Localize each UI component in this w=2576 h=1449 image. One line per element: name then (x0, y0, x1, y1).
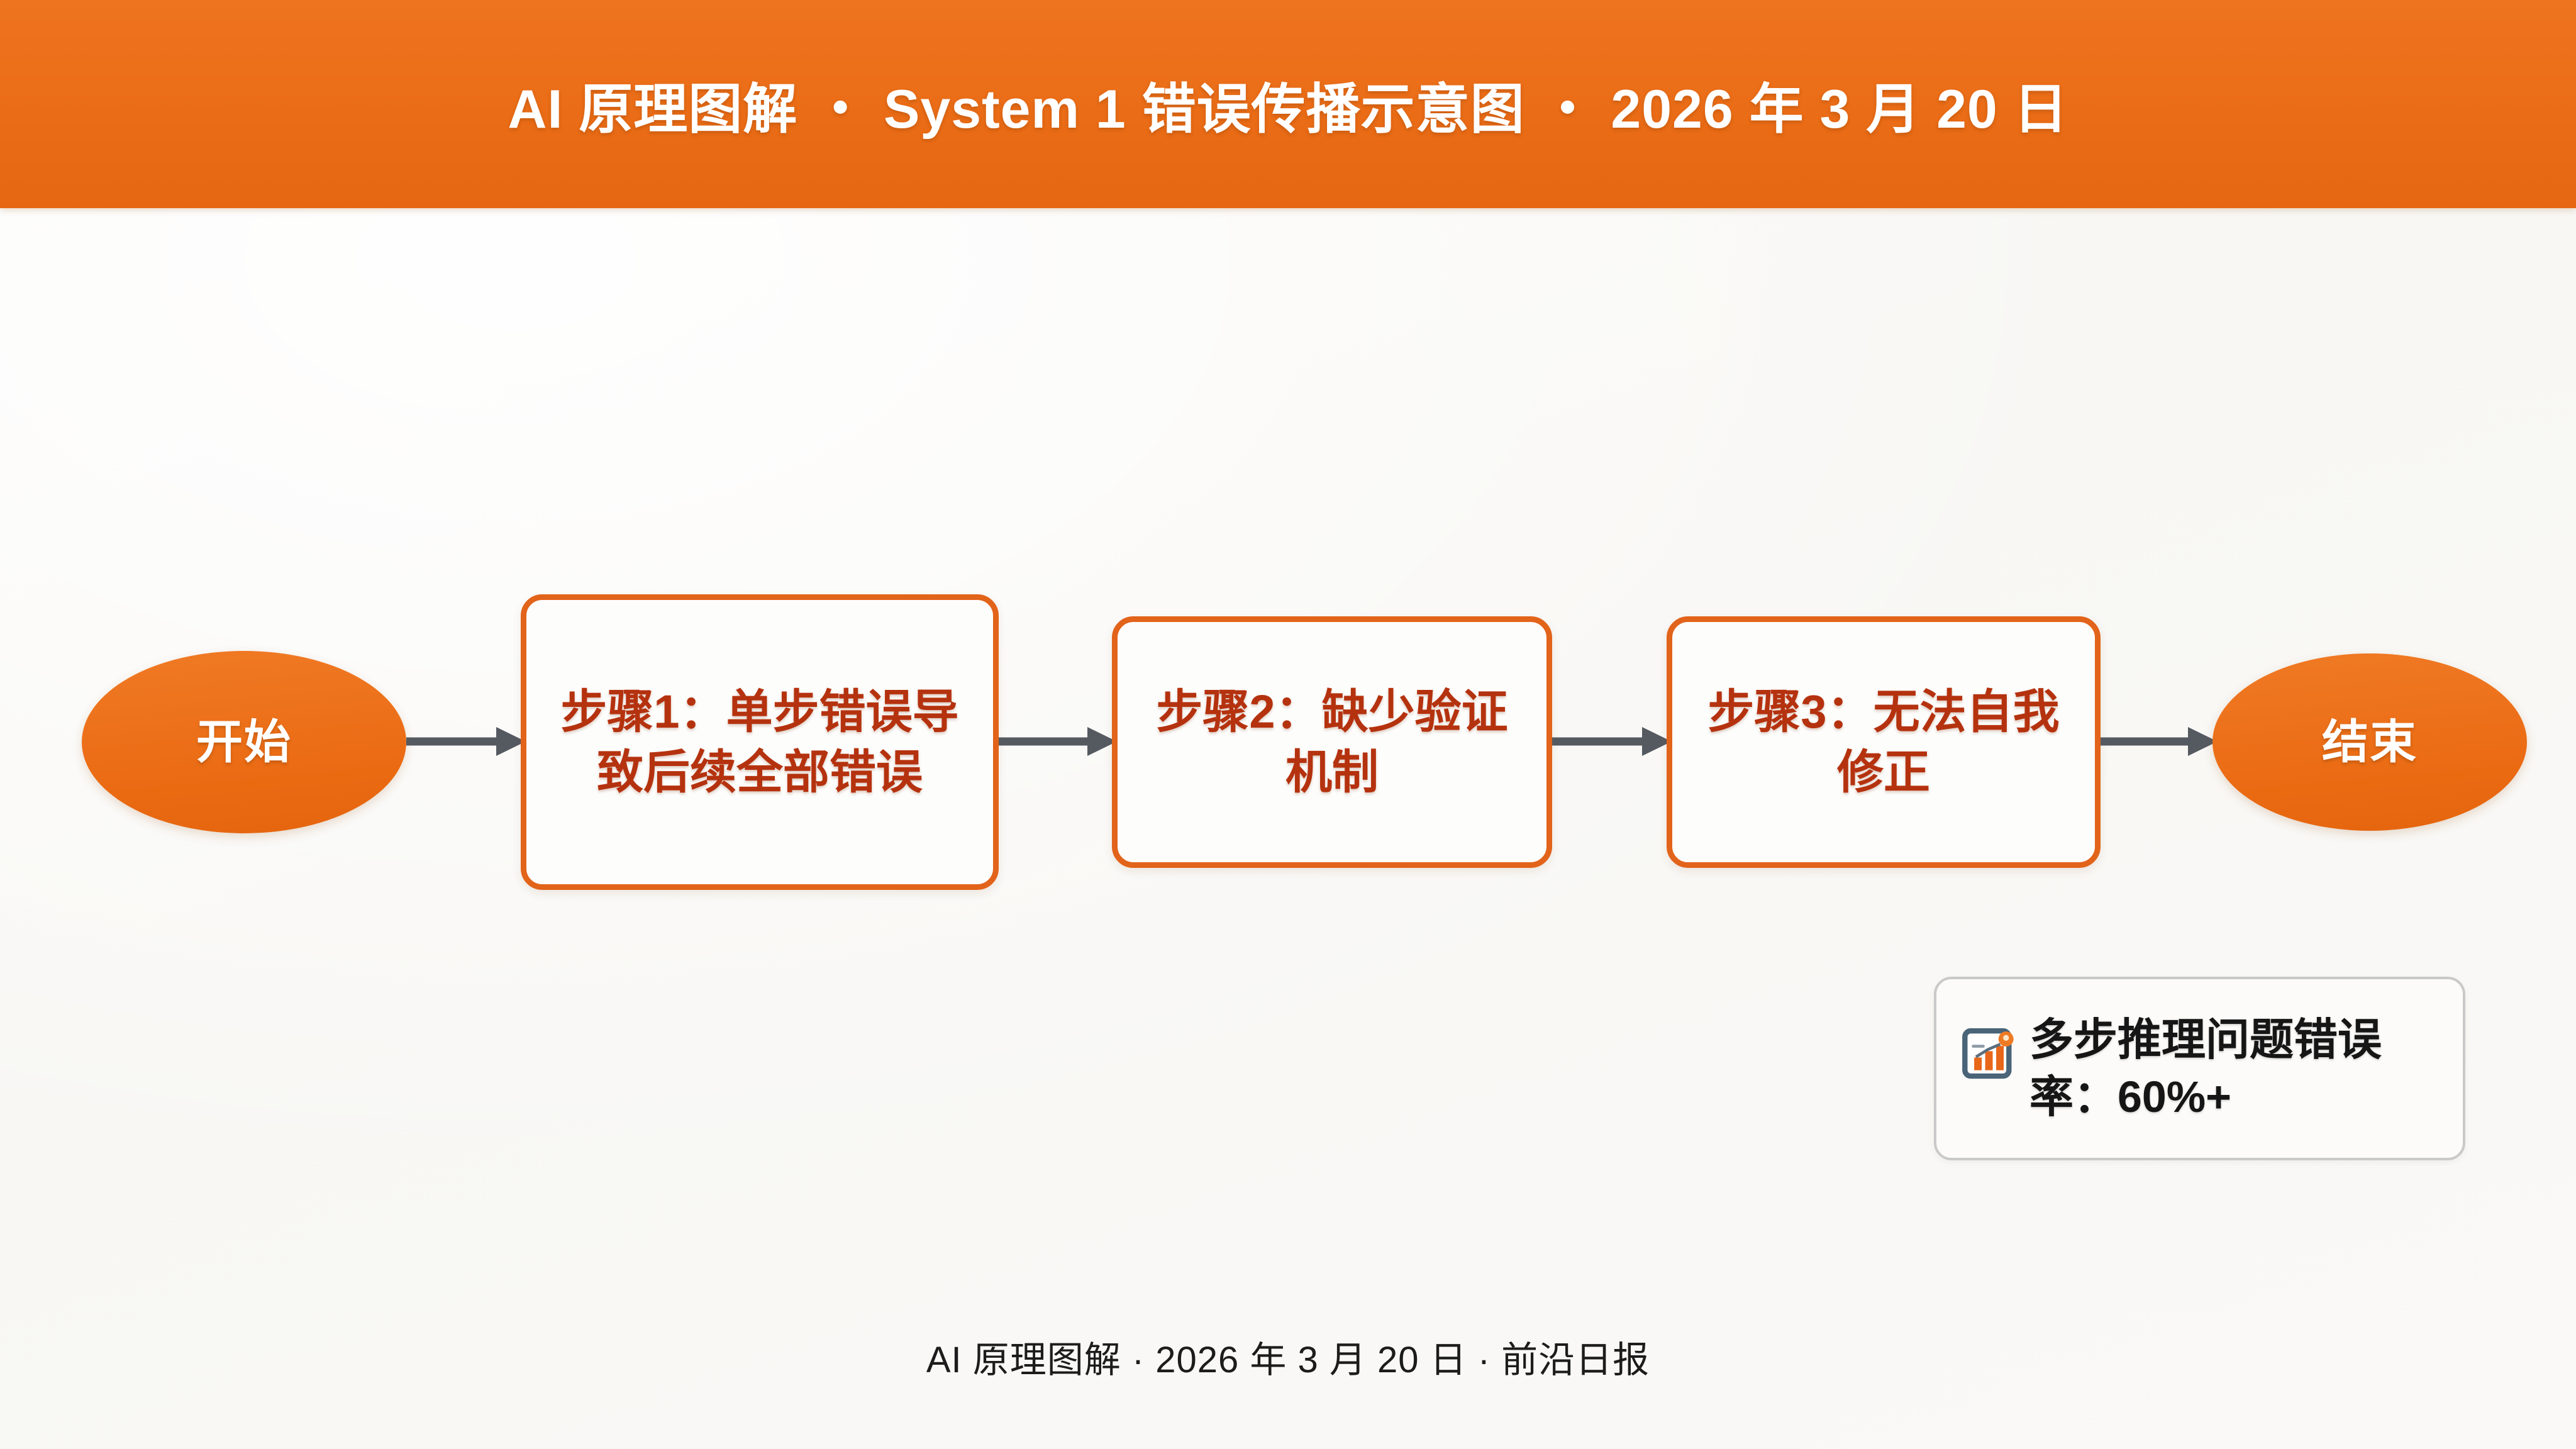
flow-node-step3-label: 步骤3：无法自我修正 (1689, 682, 2079, 802)
flow-arrow-start-to-step1 (406, 723, 526, 760)
flow-arrow-step3-to-end (2101, 723, 2218, 760)
footer-text: AI 原理图解 · 2026 年 3 月 20 日 · 前沿日报 (926, 1340, 1650, 1380)
flow-node-start[interactable]: 开始 (82, 651, 406, 833)
flow-node-step3[interactable]: 步骤3：无法自我修正 (1667, 616, 2101, 868)
flow-node-end[interactable]: 结束 (2212, 653, 2527, 831)
footer: AI 原理图解 · 2026 年 3 月 20 日 · 前沿日报 (0, 1330, 2576, 1383)
flow-node-step2-label: 步骤2：缺少验证机制 (1134, 682, 1530, 802)
flowchart: 开始 步骤1：单步错误导致后续全部错误 步骤2：缺少验证机制 步骤3：无法自我修… (0, 585, 2576, 887)
flow-node-start-label: 开始 (196, 714, 292, 770)
flow-arrow-step1-to-step2 (999, 723, 1117, 760)
page-title: AI 原理图解 ・ System 1 错误传播示意图 ・ 2026 年 3 月 … (508, 65, 2068, 143)
flow-node-end-label: 结束 (2322, 714, 2418, 770)
flow-arrow-step2-to-step3 (1552, 723, 1672, 760)
flow-node-step2[interactable]: 步骤2：缺少验证机制 (1112, 616, 1552, 868)
flow-node-step1-label: 步骤1：单步错误导致后续全部错误 (543, 682, 977, 802)
header-bar: AI 原理图解 ・ System 1 错误传播示意图 ・ 2026 年 3 月 … (0, 0, 2576, 208)
bar-chart-icon (1960, 1025, 2018, 1083)
flow-node-step1[interactable]: 步骤1：单步错误导致后续全部错误 (521, 594, 999, 890)
slide-canvas: AI 原理图解 ・ System 1 错误传播示意图 ・ 2026 年 3 月 … (0, 0, 2576, 1449)
stat-callout: 多步推理问题错误率：60%+ (1934, 977, 2465, 1160)
stat-callout-text: 多步推理问题错误率：60%+ (2029, 1011, 2438, 1126)
